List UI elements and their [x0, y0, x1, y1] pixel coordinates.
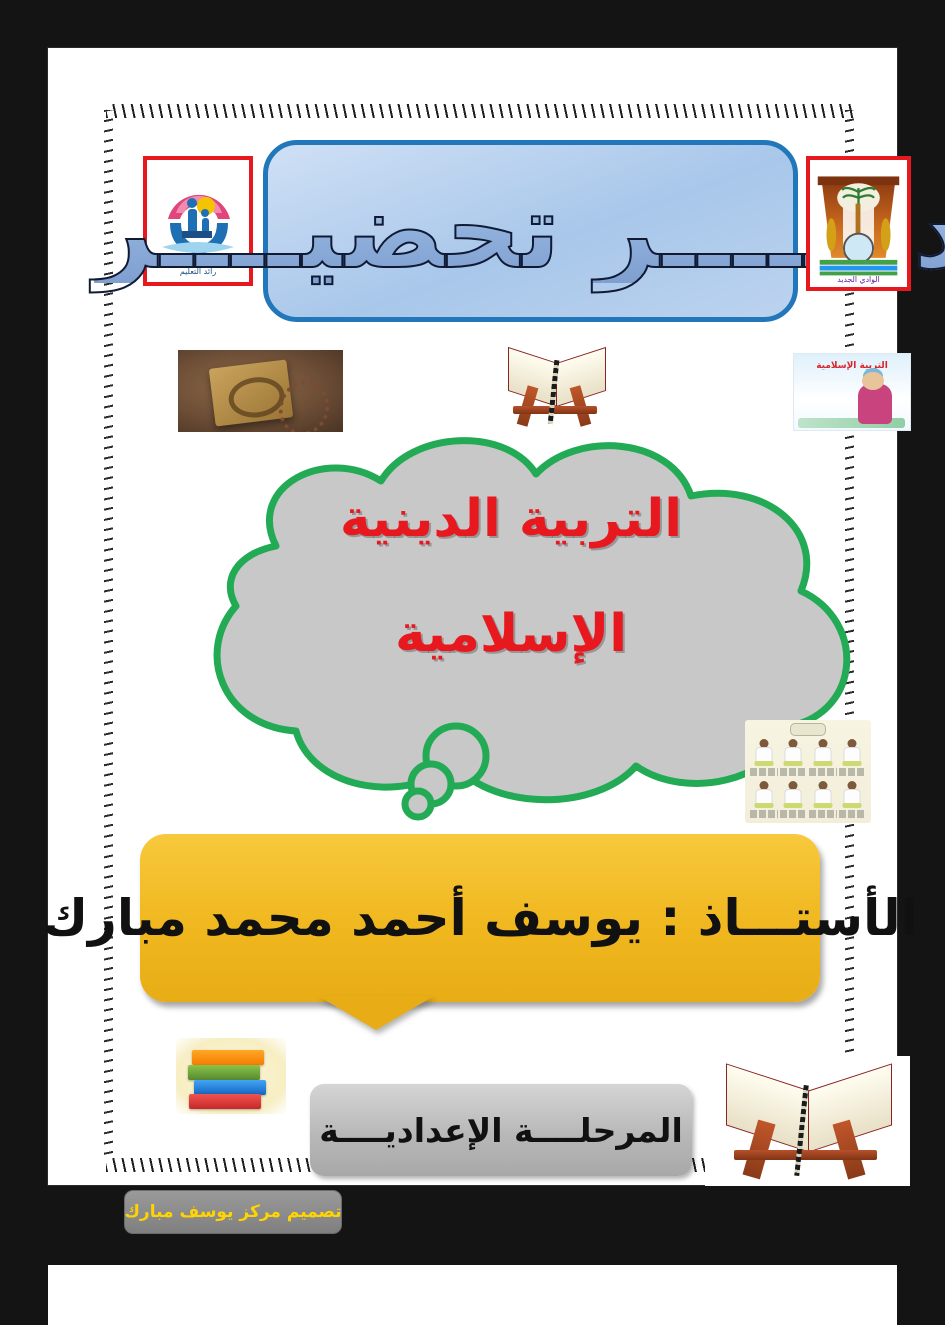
- subject-line-1: التربية الدينية: [340, 489, 682, 549]
- page-border-decoration-top: [106, 104, 854, 118]
- rehal-illustration: [496, 340, 616, 432]
- subject-line-2: الإسلامية: [126, 597, 896, 672]
- new-valley-governorate-emblem: الوادي الجديد: [806, 156, 911, 291]
- teacher-banner-tail: [318, 996, 434, 1030]
- cover-page: هدية رائد التعليم دفتــــر تحضيــــر: [48, 48, 897, 1185]
- prayer-step: [839, 779, 867, 819]
- quran-on-rehal-photo-bottom: [705, 1056, 910, 1186]
- prayer-step: [839, 737, 867, 777]
- subject-title: التربية الدينية الإسلامية: [126, 482, 896, 673]
- prayer-step: [750, 779, 778, 819]
- prayer-step: [750, 737, 778, 777]
- prayer-step: [780, 737, 808, 777]
- governorate-emblem-icon: الوادي الجديد: [810, 160, 907, 287]
- education-stage-label: المرحلــــة الإعداديــــة: [319, 1111, 682, 1150]
- prayer-step: [809, 737, 837, 777]
- prayer-step: [809, 779, 837, 819]
- book-cover-title: التربية الإسلامية: [794, 361, 910, 371]
- teacher-name: الأستـــاذ : يوسف أحمد محمد مبارك: [42, 889, 918, 947]
- quran-with-beads-photo: [178, 350, 343, 432]
- cover-title-box: دفتــــر تحضيــــر: [263, 140, 798, 322]
- books-stack-photo: [176, 1038, 286, 1114]
- prayer-steps-chart: [745, 720, 871, 823]
- designer-credit-label: تصميم مركز يوسف مبارك: [124, 1202, 341, 1222]
- rehal-illustration-large: [705, 1056, 910, 1186]
- designer-credit-badge: تصميم مركز يوسف مبارك: [124, 1190, 342, 1234]
- next-page-edge: [48, 1265, 897, 1325]
- quran-on-stand-photo-top: [496, 340, 616, 432]
- education-stage-box: المرحلــــة الإعداديــــة: [310, 1084, 692, 1176]
- svg-text:الوادي الجديد: الوادي الجديد: [837, 275, 879, 284]
- islamic-education-book-cover: التربية الإسلامية: [793, 353, 911, 431]
- prayer-step: [780, 779, 808, 819]
- reading-child-figure: [858, 384, 892, 424]
- prayer-steps-grid: [750, 737, 866, 819]
- teacher-name-banner: الأستـــاذ : يوسف أحمد محمد مبارك: [140, 834, 820, 1002]
- prayer-chart-badge: [790, 723, 826, 736]
